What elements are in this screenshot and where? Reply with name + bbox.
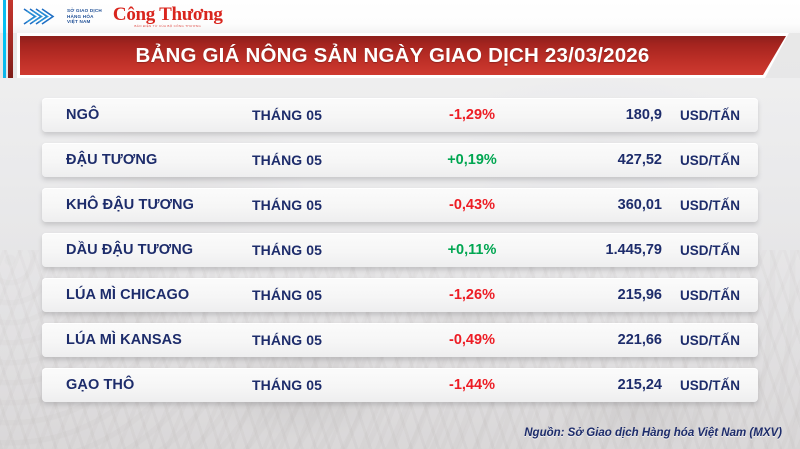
- cong-thuong-tagline: BÁO ĐIỆN TỬ CỦA BỘ CÔNG THƯƠNG: [134, 24, 201, 28]
- table-row: LÚA MÌ KANSASTHÁNG 05-0,49%221,66USD/TẤN: [42, 323, 758, 357]
- price-unit: USD/TẤN: [662, 333, 758, 348]
- contract-month: THÁNG 05: [252, 377, 402, 393]
- price-unit: USD/TẤN: [662, 378, 758, 393]
- contract-month: THÁNG 05: [252, 152, 402, 168]
- price-unit: USD/TẤN: [662, 243, 758, 258]
- price-value: 1.445,79: [542, 242, 662, 258]
- price-value: 427,52: [542, 152, 662, 168]
- mxv-logo-line-3: VIỆT NAM: [67, 19, 102, 25]
- commodity-name: ĐẬU TƯƠNG: [42, 152, 252, 168]
- price-change-percent: -1,29%: [402, 107, 542, 123]
- table-row: LÚA MÌ CHICAGOTHÁNG 05-1,26%215,96USD/TẤ…: [42, 278, 758, 312]
- price-value: 215,24: [542, 377, 662, 393]
- price-change-percent: -0,43%: [402, 197, 542, 213]
- table-row: ĐẬU TƯƠNGTHÁNG 05+0,19%427,52USD/TẤN: [42, 143, 758, 177]
- logo-block: SỞ GIAO DỊCH HÀNG HÓA VIỆT NAM Công Thươ…: [22, 4, 223, 29]
- price-change-percent: +0,19%: [402, 152, 542, 168]
- commodity-name: NGÔ: [42, 107, 252, 123]
- contract-month: THÁNG 05: [252, 332, 402, 348]
- table-row: DẦU ĐẬU TƯƠNGTHÁNG 05+0,11%1.445,79USD/T…: [42, 233, 758, 267]
- title-banner-fill: BẢNG GIÁ NÔNG SẢN NGÀY GIAO DỊCH 23/03/2…: [20, 36, 786, 75]
- accent-bar-cyan: [3, 0, 6, 78]
- price-value: 180,9: [542, 107, 662, 123]
- accent-bar-red: [8, 0, 13, 78]
- commodity-name: GẠO THÔ: [42, 377, 252, 393]
- table-row: NGÔTHÁNG 05-1,29%180,9USD/TẤN: [42, 98, 758, 132]
- price-unit: USD/TẤN: [662, 153, 758, 168]
- price-table: NGÔTHÁNG 05-1,29%180,9USD/TẤNĐẬU TƯƠNGTH…: [42, 98, 758, 413]
- infographic-page: SỞ GIAO DỊCH HÀNG HÓA VIỆT NAM Công Thươ…: [0, 0, 800, 449]
- table-row: GẠO THÔTHÁNG 05-1,44%215,24USD/TẤN: [42, 368, 758, 402]
- contract-month: THÁNG 05: [252, 197, 402, 213]
- page-title: BẢNG GIÁ NÔNG SẢN NGÀY GIAO DỊCH 23/03/2…: [20, 36, 765, 75]
- title-banner: BẢNG GIÁ NÔNG SẢN NGÀY GIAO DỊCH 23/03/2…: [17, 33, 789, 78]
- contract-month: THÁNG 05: [252, 242, 402, 258]
- commodity-name: LÚA MÌ KANSAS: [42, 332, 252, 348]
- commodity-name: KHÔ ĐẬU TƯƠNG: [42, 197, 252, 213]
- cong-thuong-wordmark: Công Thương: [113, 5, 223, 24]
- cong-thuong-logo: Công Thương BÁO ĐIỆN TỬ CỦA BỘ CÔNG THƯƠ…: [113, 5, 223, 28]
- contract-month: THÁNG 05: [252, 287, 402, 303]
- price-change-percent: -0,49%: [402, 332, 542, 348]
- commodity-name: DẦU ĐẬU TƯƠNG: [42, 242, 252, 258]
- price-value: 360,01: [542, 197, 662, 213]
- price-value: 221,66: [542, 332, 662, 348]
- commodity-name: LÚA MÌ CHICAGO: [42, 287, 252, 303]
- source-note: Nguồn: Sở Giao dịch Hàng hóa Việt Nam (M…: [524, 427, 782, 439]
- price-unit: USD/TẤN: [662, 288, 758, 303]
- price-value: 215,96: [542, 287, 662, 303]
- table-row: KHÔ ĐẬU TƯƠNGTHÁNG 05-0,43%360,01USD/TẤN: [42, 188, 758, 222]
- contract-month: THÁNG 05: [252, 107, 402, 123]
- price-change-percent: -1,26%: [402, 287, 542, 303]
- mxv-logo-icon: [22, 6, 62, 27]
- price-change-percent: -1,44%: [402, 377, 542, 393]
- price-change-percent: +0,11%: [402, 242, 542, 258]
- price-unit: USD/TẤN: [662, 198, 758, 213]
- mxv-logo-line-1: SỞ GIAO DỊCH: [67, 8, 102, 14]
- price-unit: USD/TẤN: [662, 108, 758, 123]
- mxv-logo-text: SỞ GIAO DỊCH HÀNG HÓA VIỆT NAM: [67, 8, 102, 25]
